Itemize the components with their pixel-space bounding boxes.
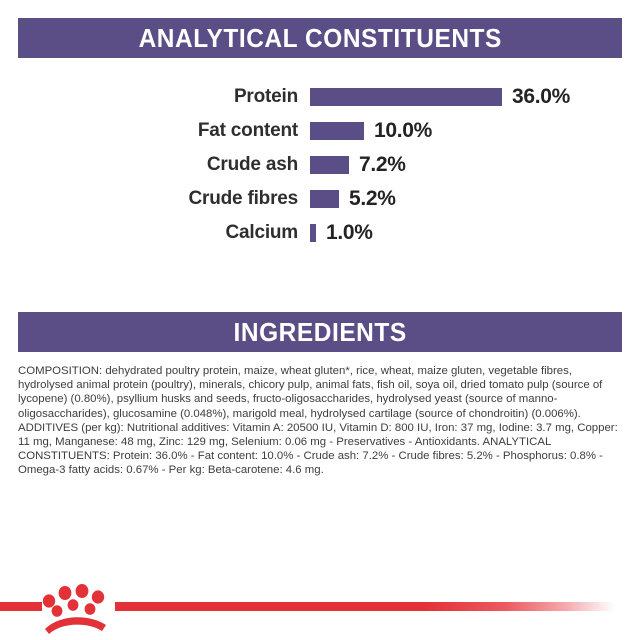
chart-row-value: 7.2% [359, 153, 406, 177]
chart-row: Calcium 1.0% [0, 216, 640, 250]
chart-row: Protein 36.0% [0, 80, 640, 114]
chart-row-label: Crude ash [0, 154, 310, 176]
chart-bar [310, 122, 364, 140]
chart-row-label: Calcium [0, 222, 310, 244]
ingredients-title: INGREDIENTS [233, 319, 406, 345]
chart-bar [310, 224, 316, 242]
chart-row: Crude fibres 5.2% [0, 182, 640, 216]
footer-brand-bar [0, 570, 640, 640]
additives-paragraph: ADDITIVES (per kg): Nutritional additive… [18, 421, 626, 478]
chart-row-value: 1.0% [326, 221, 373, 245]
chart-row-label: Crude fibres [0, 188, 310, 210]
analytical-constituents-chart: Protein 36.0% Fat content 10.0% Crude as… [0, 80, 640, 250]
chart-bar [310, 88, 502, 106]
composition-paragraph: COMPOSITION: dehydrated poultry protein,… [18, 364, 626, 421]
chart-row: Crude ash 7.2% [0, 148, 640, 182]
chart-row-label: Protein [0, 86, 310, 108]
chart-row: Fat content 10.0% [0, 114, 640, 148]
chart-row-value: 36.0% [512, 85, 570, 109]
ingredients-body: COMPOSITION: dehydrated poultry protein,… [18, 364, 626, 478]
chart-row-value: 5.2% [349, 187, 396, 211]
analytical-constituents-title: ANALYTICAL CONSTITUENTS [138, 25, 501, 51]
royal-canin-crown-icon [40, 578, 112, 634]
chart-bar [310, 190, 339, 208]
chart-bar-track: 36.0% [310, 80, 640, 114]
chart-bar-track: 1.0% [310, 216, 640, 250]
ingredients-header: INGREDIENTS [18, 312, 622, 352]
chart-bar-track: 7.2% [310, 148, 640, 182]
product-info-panel: ANALYTICAL CONSTITUENTS Protein 36.0% Fa… [0, 0, 640, 640]
chart-bar [310, 156, 349, 174]
chart-row-label: Fat content [0, 120, 310, 142]
chart-row-value: 10.0% [374, 119, 432, 143]
analytical-constituents-header: ANALYTICAL CONSTITUENTS [18, 18, 622, 58]
footer-rule-right [115, 602, 615, 611]
footer-rule-left [0, 602, 42, 611]
chart-bar-track: 10.0% [310, 114, 640, 148]
chart-bar-track: 5.2% [310, 182, 640, 216]
